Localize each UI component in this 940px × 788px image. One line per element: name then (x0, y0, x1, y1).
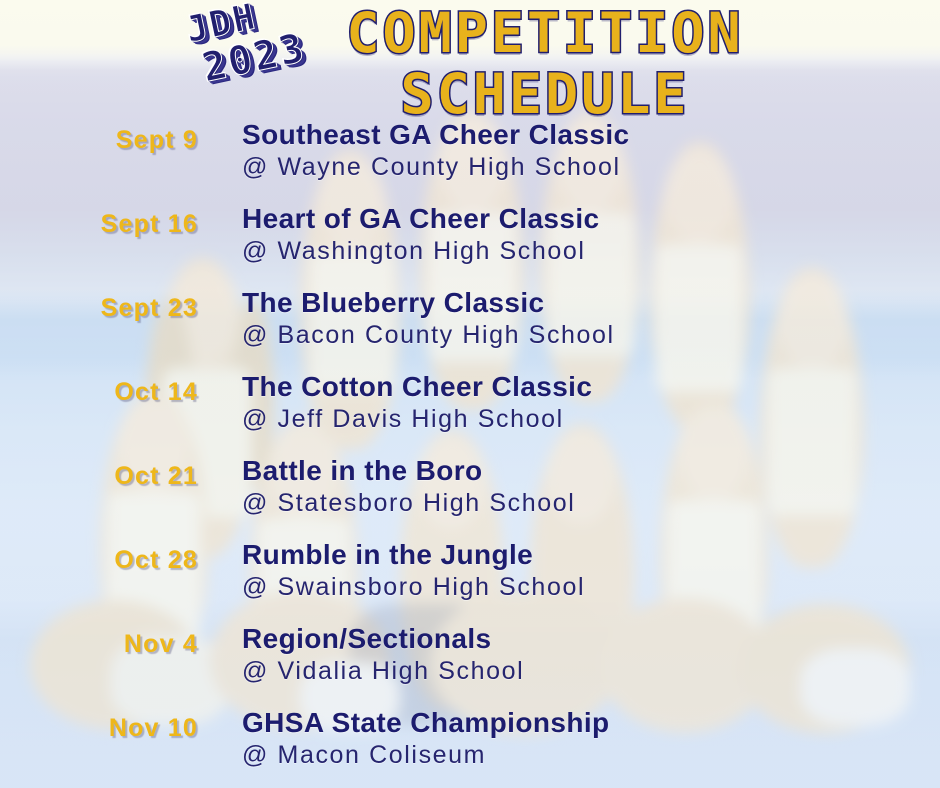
event-name: Heart of GA Cheer Classic (242, 202, 930, 235)
event-info: Heart of GA Cheer Classic @ Washington H… (242, 202, 930, 266)
event-venue: @ Vidalia High School (242, 656, 930, 686)
schedule-row: Oct 14 The Cotton Cheer Classic @ Jeff D… (0, 364, 940, 448)
event-date: Nov 10 (0, 714, 198, 743)
event-date: Sept 9 (0, 126, 198, 155)
event-date: Oct 14 (0, 378, 198, 407)
event-date: Sept 16 (0, 210, 198, 239)
event-date: Nov 4 (0, 630, 198, 659)
event-info: Battle in the Boro @ Statesboro High Sch… (242, 454, 930, 518)
event-venue: @ Bacon County High School (242, 320, 930, 350)
event-name: Region/Sectionals (242, 622, 930, 655)
event-name: Rumble in the Jungle (242, 538, 930, 571)
event-venue: @ Swainsboro High School (242, 572, 930, 602)
schedule-list: Sept 9 Southeast GA Cheer Classic @ Wayn… (0, 112, 940, 784)
event-info: The Cotton Cheer Classic @ Jeff Davis Hi… (242, 370, 930, 434)
event-name: GHSA State Championship (242, 706, 930, 739)
event-name: The Cotton Cheer Classic (242, 370, 930, 403)
event-venue: @ Macon Coliseum (242, 740, 930, 770)
event-venue: @ Statesboro High School (242, 488, 930, 518)
competition-schedule-poster: JDH 2023 COMPETITION SCHEDULE Sept 9 Sou… (0, 0, 940, 788)
schedule-row: Oct 28 Rumble in the Jungle @ Swainsboro… (0, 532, 940, 616)
event-info: Southeast GA Cheer Classic @ Wayne Count… (242, 118, 930, 182)
event-date: Oct 21 (0, 462, 198, 491)
event-name: The Blueberry Classic (242, 286, 930, 319)
event-name: Southeast GA Cheer Classic (242, 118, 930, 151)
event-info: Region/Sectionals @ Vidalia High School (242, 622, 930, 686)
event-venue: @ Jeff Davis High School (242, 404, 930, 434)
schedule-row: Nov 4 Region/Sectionals @ Vidalia High S… (0, 616, 940, 700)
event-name: Battle in the Boro (242, 454, 930, 487)
event-venue: @ Wayne County High School (242, 152, 930, 182)
event-date: Sept 23 (0, 294, 198, 323)
event-date: Oct 28 (0, 546, 198, 575)
event-venue: @ Washington High School (242, 236, 930, 266)
event-info: GHSA State Championship @ Macon Coliseum (242, 706, 930, 770)
schedule-row: Sept 23 The Blueberry Classic @ Bacon Co… (0, 280, 940, 364)
poster-header: JDH 2023 COMPETITION SCHEDULE (0, 0, 940, 118)
event-info: The Blueberry Classic @ Bacon County Hig… (242, 286, 930, 350)
schedule-row: Oct 21 Battle in the Boro @ Statesboro H… (0, 448, 940, 532)
schedule-row: Sept 16 Heart of GA Cheer Classic @ Wash… (0, 196, 940, 280)
page-title: COMPETITION SCHEDULE (0, 6, 940, 122)
title-line-competition: COMPETITION (0, 6, 940, 61)
schedule-row: Nov 10 GHSA State Championship @ Macon C… (0, 700, 940, 784)
event-info: Rumble in the Jungle @ Swainsboro High S… (242, 538, 930, 602)
schedule-row: Sept 9 Southeast GA Cheer Classic @ Wayn… (0, 112, 940, 196)
